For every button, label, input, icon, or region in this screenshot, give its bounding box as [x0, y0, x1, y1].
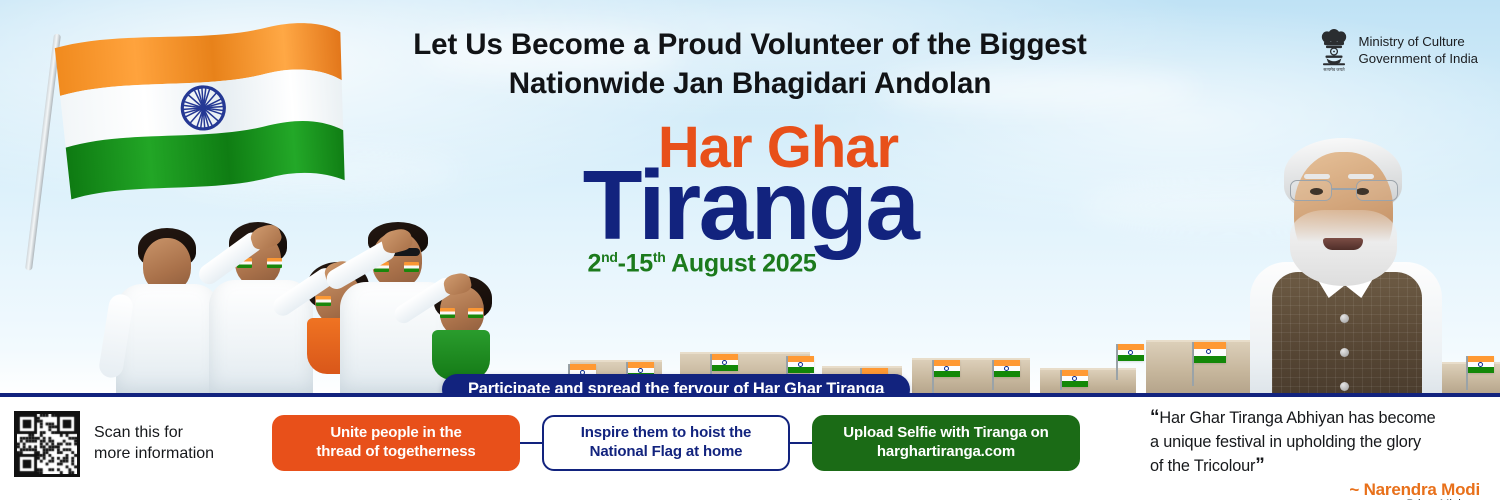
- qr-block[interactable]: Scan this for more information: [14, 411, 214, 477]
- quote-attribution: ~ Narendra Modi Prime Minister: [1150, 480, 1480, 500]
- qr-code-icon[interactable]: [14, 411, 80, 477]
- svg-text:सत्यमेव जयते: सत्यमेव जयते: [1323, 67, 1345, 72]
- step-2-line-1: Inspire them to hoist the: [581, 424, 751, 443]
- quote-line-3: of the Tricolour: [1150, 457, 1255, 475]
- quote-text: “Har Ghar Tiranga Abhiyan has become a u…: [1150, 405, 1480, 479]
- ministry-line-2: Government of India: [1359, 51, 1479, 68]
- ministry-text: Ministry of Culture Government of India: [1359, 34, 1479, 68]
- har-ghar-tiranga-banner: Let Us Become a Proud Volunteer of the B…: [0, 0, 1500, 500]
- headline-line-1: Let Us Become a Proud Volunteer of the B…: [350, 26, 1150, 65]
- ministry-line-1: Ministry of Culture: [1359, 34, 1479, 51]
- quote-close-mark: ”: [1255, 455, 1264, 476]
- step-connector: [790, 442, 812, 445]
- quote-open-mark: “: [1150, 407, 1159, 428]
- step-3-line-1: Upload Selfie with Tiranga on: [843, 424, 1048, 443]
- step-inspire-hoist[interactable]: Inspire them to hoist the National Flag …: [542, 415, 790, 471]
- date-end-suffix: th: [653, 249, 666, 265]
- date-separator: -: [618, 249, 626, 277]
- steps-row: Unite people in the thread of togetherne…: [272, 415, 1080, 471]
- date-end-day: 15: [626, 249, 653, 277]
- step-upload-selfie[interactable]: Upload Selfie with Tiranga on harghartir…: [812, 415, 1080, 471]
- date-start-suffix: nd: [601, 249, 618, 265]
- eyeglasses-icon: [1290, 180, 1398, 202]
- campaign-title: Har Ghar Tiranga 2nd-15th August 2025: [430, 120, 1070, 278]
- step-1-line-2: thread of togetherness: [316, 443, 475, 462]
- qr-caption-line-1: Scan this for: [94, 423, 214, 444]
- ashoka-lion-capital-emblem-icon: सत्यमेव जयते: [1318, 28, 1350, 74]
- date-start-day: 2: [587, 249, 601, 277]
- step-connector: [520, 442, 542, 445]
- sky-background: Let Us Become a Proud Volunteer of the B…: [0, 0, 1500, 396]
- step-3-line-2: harghartiranga.com: [843, 443, 1048, 462]
- quote-line-2: a unique festival in upholding the glory: [1150, 433, 1421, 451]
- headline: Let Us Become a Proud Volunteer of the B…: [350, 26, 1150, 104]
- ministry-of-culture-logo: सत्यमेव जयते Ministry of Culture Governm…: [1318, 28, 1479, 74]
- step-unite-people[interactable]: Unite people in the thread of togetherne…: [272, 415, 520, 471]
- flag-cloth: [52, 18, 354, 218]
- qr-caption: Scan this for more information: [94, 423, 214, 465]
- step-1-line-1: Unite people in the: [316, 424, 475, 443]
- quote-block: “Har Ghar Tiranga Abhiyan has become a u…: [1150, 405, 1480, 500]
- headline-line-2: Nationwide Jan Bhagidari Andolan: [350, 65, 1150, 104]
- prime-minister-portrait: [1222, 136, 1472, 396]
- quote-line-1: Har Ghar Tiranga Abhiyan has become: [1159, 409, 1435, 427]
- qr-caption-line-2: more information: [94, 444, 214, 465]
- step-2-line-2: National Flag at home: [581, 443, 751, 462]
- footer: Scan this for more information Unite peo…: [0, 397, 1500, 500]
- quote-author: ~ Narendra Modi: [1150, 480, 1480, 500]
- title-tiranga: Tiranga: [430, 163, 1070, 247]
- date-rest: August 2025: [665, 249, 816, 277]
